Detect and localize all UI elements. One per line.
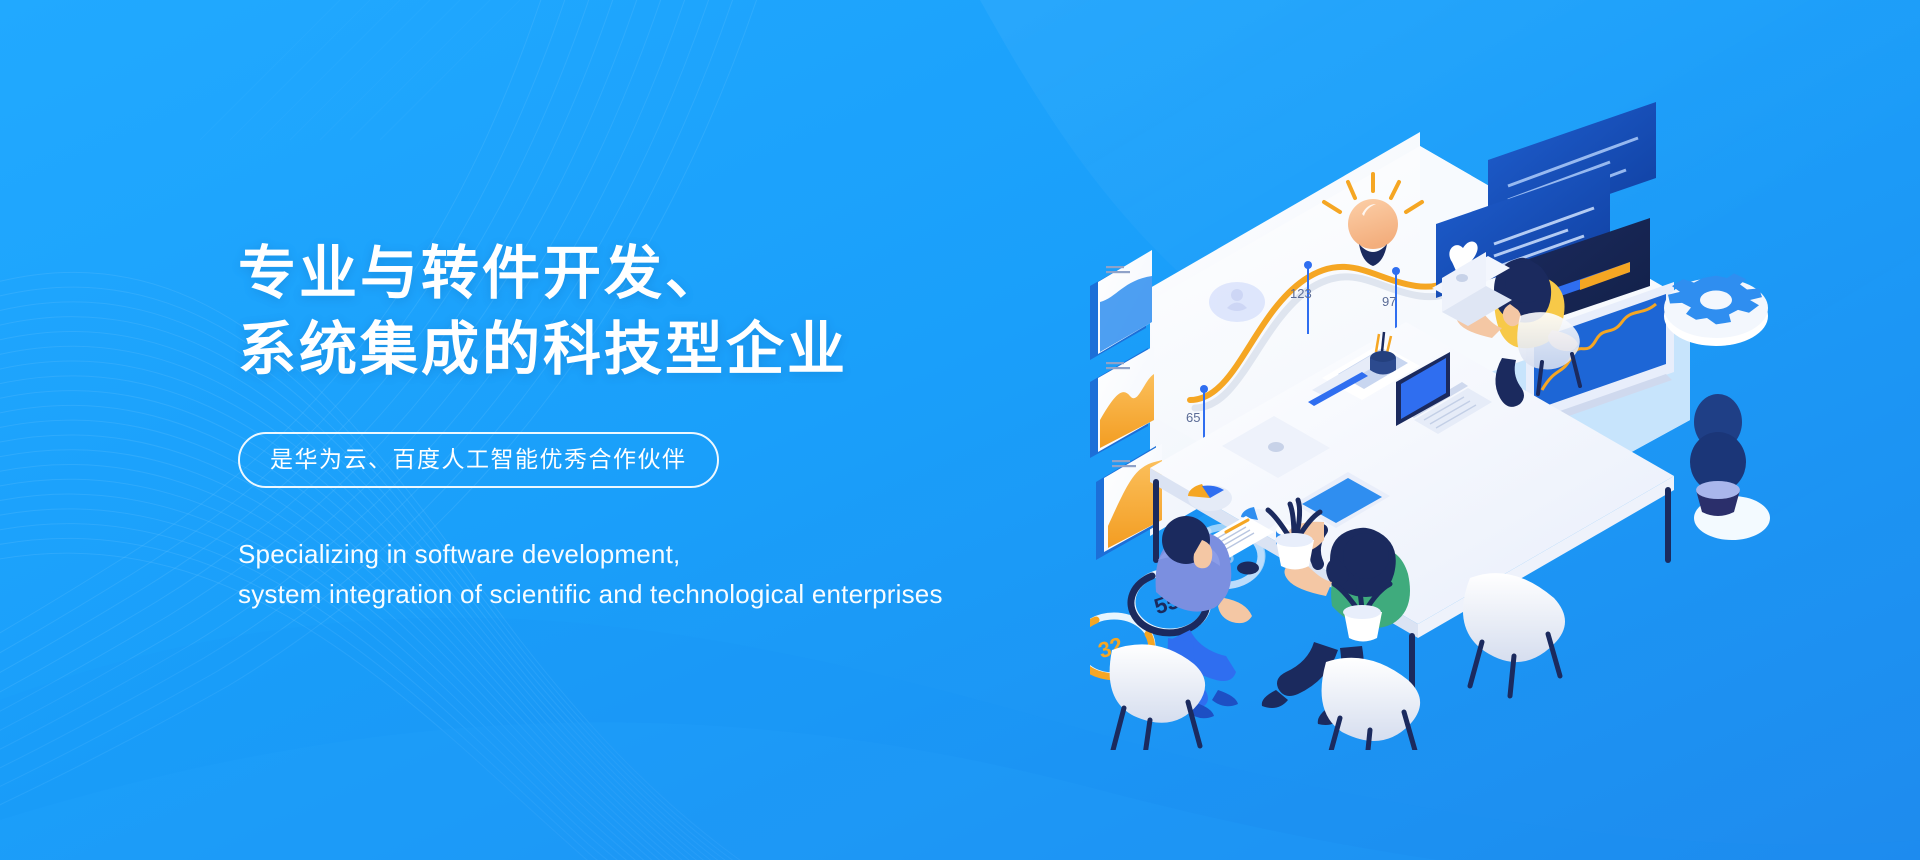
chair-center: [1322, 658, 1421, 750]
chair-right: [1463, 573, 1565, 696]
gear-icon: [1664, 273, 1768, 346]
hero-copy: 专业与转件开发、 系统集成的科技型企业 是华为云、百度人工智能优秀合作伙伴 Sp…: [238, 236, 1138, 614]
chart-label-123: 123: [1290, 286, 1312, 301]
hero-subtitle-line-2: system integration of scientific and tec…: [238, 574, 1138, 614]
hero-banner: 专业与转件开发、 系统集成的科技型企业 是华为云、百度人工智能优秀合作伙伴 Sp…: [0, 0, 1920, 860]
page-title-line-1: 专业与转件开发、: [238, 236, 1138, 312]
chart-label-97: 97: [1382, 294, 1396, 309]
hero-subtitle-line-1: Specializing in software development,: [238, 534, 1138, 574]
topiary-plant-icon: [1690, 394, 1770, 540]
partner-badge: 是华为云、百度人工智能优秀合作伙伴: [238, 432, 719, 488]
user-avatar-icon: [1209, 282, 1265, 322]
chart-label-65: 65: [1186, 410, 1200, 425]
office-illustration: 65 123 97 81: [1090, 90, 1900, 750]
hero-subtitle: Specializing in software development, sy…: [238, 534, 1138, 614]
page-title-line-2: 系统集成的科技型企业: [238, 312, 1138, 388]
